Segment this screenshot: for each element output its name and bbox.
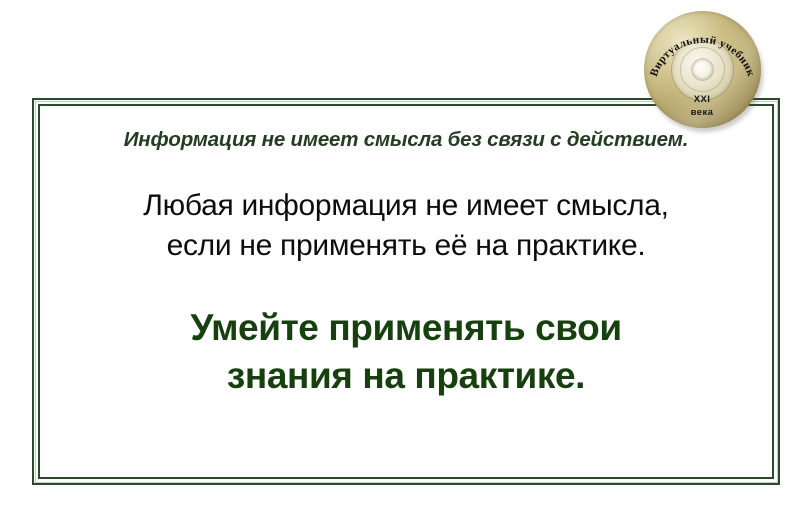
body-line-1: Любая информация не имеет смысла, (143, 189, 668, 222)
slide-content: Информация не имеет смысла без связи с д… (48, 108, 764, 476)
accent-paragraph: Умейте применять свои знания на практике… (190, 304, 621, 400)
compact-disc-century-word: века (643, 107, 761, 120)
slide-canvas: Информация не имеет смысла без связи с д… (0, 0, 807, 510)
compact-disc-arc-label: Виртуальный учебник (648, 34, 757, 79)
compact-disc-century-number: XXI (694, 94, 711, 105)
accent-line-1: Умейте применять свои (190, 307, 621, 348)
body-paragraph: Любая информация не имеет смысла, если н… (143, 186, 668, 266)
body-line-2: если не применять её на практике. (143, 226, 668, 266)
compact-disc-arc-textpath: Виртуальный учебник (648, 34, 757, 79)
quote-line: Информация не имеет смысла без связи с д… (124, 128, 689, 152)
compact-disc-icon: Виртуальный учебник XXI века (643, 10, 765, 134)
accent-line-2: знания на практике. (190, 352, 621, 400)
compact-disc-center-label: XXI века (643, 94, 761, 119)
